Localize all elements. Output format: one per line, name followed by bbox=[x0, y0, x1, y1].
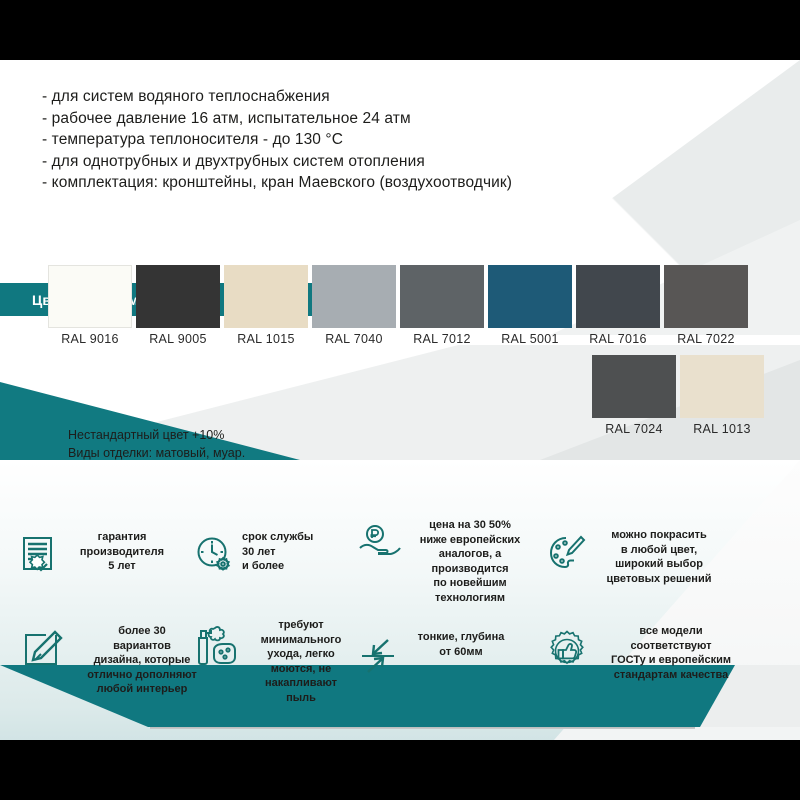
color-swatch-row-2: RAL 7024RAL 1013 bbox=[592, 355, 768, 440]
feature-text-line: производится bbox=[410, 562, 530, 577]
color-swatch: RAL 9005 bbox=[136, 265, 220, 346]
feature-item: гарантияпроизводителя5 лет bbox=[22, 530, 180, 579]
note-line-2: Виды отделки: матовый, муар. bbox=[68, 444, 245, 462]
feature-text-line: технологиям bbox=[410, 591, 530, 606]
slide-canvas: - для систем водяного теплоснабжения- ра… bbox=[0, 60, 800, 740]
color-swatch-chip bbox=[664, 265, 748, 328]
feature-text-line: срок службы bbox=[242, 530, 342, 545]
feature-item: требуютминимальногоухода, легкомоются, н… bbox=[192, 618, 356, 705]
hand-ruble-icon bbox=[358, 524, 402, 563]
thumbs-up-badge-icon bbox=[546, 630, 588, 677]
color-swatch-row-1: RAL 9016RAL 9005RAL 1015RAL 7040RAL 7012… bbox=[48, 265, 752, 350]
color-swatch-chip bbox=[592, 355, 676, 418]
feature-text-line: и более bbox=[242, 559, 342, 574]
color-swatch-chip bbox=[224, 265, 308, 328]
color-swatch-label: RAL 7022 bbox=[664, 332, 748, 346]
feature-item: более 30вариантовдизайна, которыеотлично… bbox=[22, 624, 212, 697]
color-swatch-chip bbox=[576, 265, 660, 328]
color-swatch: RAL 7040 bbox=[312, 265, 396, 346]
color-notes: Нестандартный цвет +10% Виды отделки: ма… bbox=[68, 426, 245, 462]
color-swatch-label: RAL 9005 bbox=[136, 332, 220, 346]
feature-text-line: ухода, легко bbox=[246, 647, 356, 662]
feature-text: все моделисоответствуютГОСТу и европейск… bbox=[596, 624, 746, 682]
feature-text-line: производителя bbox=[64, 545, 180, 560]
feature-text-line: минимального bbox=[246, 633, 356, 648]
feature-text-line: ниже европейских bbox=[410, 533, 530, 548]
feature-text-line: соответствуют bbox=[596, 639, 746, 654]
color-swatch: RAL 5001 bbox=[488, 265, 572, 346]
feature-text-line: стандартам качества bbox=[596, 668, 746, 683]
note-line-1: Нестандартный цвет +10% bbox=[68, 426, 245, 444]
feature-text-line: все модели bbox=[596, 624, 746, 639]
color-swatch-label: RAL 9016 bbox=[48, 332, 132, 346]
feature-text: можно покраситьв любой цвет,широкий выбо… bbox=[594, 528, 724, 586]
palette-brush-icon bbox=[548, 534, 586, 577]
feature-text-line: отлично дополняют bbox=[72, 668, 212, 683]
spec-bullet-item: - для однотрубных и двухтрубных систем о… bbox=[42, 151, 512, 173]
color-swatch-chip bbox=[680, 355, 764, 418]
color-swatch-label: RAL 7024 bbox=[592, 422, 676, 436]
spec-bullet-item: - комплектация: кронштейны, кран Маевско… bbox=[42, 172, 512, 194]
spec-bullet-item: - для систем водяного теплоснабжения bbox=[42, 86, 512, 108]
feature-text-line: требуют bbox=[246, 618, 356, 633]
feature-text: гарантияпроизводителя5 лет bbox=[64, 530, 180, 574]
feature-text-line: ГОСТу и европейским bbox=[596, 653, 746, 668]
feature-text: цена на 30 50%ниже европейскиханалогов, … bbox=[410, 518, 530, 605]
color-swatch: RAL 7012 bbox=[400, 265, 484, 346]
color-swatch: RAL 7022 bbox=[664, 265, 748, 346]
feature-text-line: накапливают bbox=[246, 676, 356, 691]
color-swatch: RAL 7024 bbox=[592, 355, 676, 436]
feature-item: можно покраситьв любой цвет,широкий выбо… bbox=[548, 528, 724, 586]
feature-text-line: по новейшим bbox=[410, 576, 530, 591]
feature-text: более 30вариантовдизайна, которыеотлично… bbox=[72, 624, 212, 697]
spec-bullet-item: - рабочее давление 16 атм, испытательное… bbox=[42, 108, 512, 130]
feature-text: тонкие, глубинаот 60мм bbox=[406, 630, 516, 659]
color-swatch: RAL 7016 bbox=[576, 265, 660, 346]
color-swatch-chip bbox=[312, 265, 396, 328]
color-swatch-label: RAL 7040 bbox=[312, 332, 396, 346]
feature-text: требуютминимальногоухода, легкомоются, н… bbox=[246, 618, 356, 705]
feature-grid: гарантияпроизводителя5 летсрок службы30 … bbox=[0, 512, 800, 722]
spec-bullet-item: - температура теплоносителя - до 130 °C bbox=[42, 129, 512, 151]
feature-text-line: от 60мм bbox=[406, 645, 516, 660]
spray-sponge-icon bbox=[192, 624, 238, 671]
spec-bullet-list: - для систем водяного теплоснабжения- ра… bbox=[42, 86, 512, 194]
feature-text-line: 30 лет bbox=[242, 545, 342, 560]
clock-gear-icon bbox=[196, 536, 234, 579]
color-swatch: RAL 9016 bbox=[48, 265, 132, 346]
feature-text-line: вариантов bbox=[72, 639, 212, 654]
certificate-icon bbox=[22, 536, 56, 579]
color-swatch-label: RAL 1015 bbox=[224, 332, 308, 346]
color-swatch-label: RAL 5001 bbox=[488, 332, 572, 346]
feature-text-line: цветовых решений bbox=[594, 572, 724, 587]
color-swatch-chip bbox=[136, 265, 220, 328]
feature-item: все моделисоответствуютГОСТу и европейск… bbox=[546, 624, 746, 682]
feature-item: срок службы30 лети более bbox=[196, 530, 342, 579]
color-swatch: RAL 1013 bbox=[680, 355, 764, 436]
feature-text-line: тонкие, глубина bbox=[406, 630, 516, 645]
feature-text-line: широкий выбор bbox=[594, 557, 724, 572]
color-swatch-chip bbox=[48, 265, 132, 328]
feature-text-line: в любой цвет, bbox=[594, 543, 724, 558]
feature-text-line: аналогов, а bbox=[410, 547, 530, 562]
color-swatch: RAL 1015 bbox=[224, 265, 308, 346]
feature-text-line: моются, не bbox=[246, 662, 356, 677]
color-swatch-label: RAL 7012 bbox=[400, 332, 484, 346]
pencil-page-icon bbox=[22, 630, 64, 675]
feature-text-line: можно покрасить bbox=[594, 528, 724, 543]
color-swatch-chip bbox=[400, 265, 484, 328]
color-swatch-chip bbox=[488, 265, 572, 328]
feature-item: тонкие, глубинаот 60мм bbox=[358, 630, 516, 681]
feature-text-line: более 30 bbox=[72, 624, 212, 639]
feature-text-line: пыль bbox=[246, 691, 356, 706]
feature-text-line: любой интерьер bbox=[72, 682, 212, 697]
color-swatch-label: RAL 1013 bbox=[680, 422, 764, 436]
depth-arrows-icon bbox=[358, 636, 398, 681]
feature-text-line: 5 лет bbox=[64, 559, 180, 574]
color-swatch-label: RAL 7016 bbox=[576, 332, 660, 346]
feature-text-line: цена на 30 50% bbox=[410, 518, 530, 533]
feature-text-line: дизайна, которые bbox=[72, 653, 212, 668]
feature-text-line: гарантия bbox=[64, 530, 180, 545]
feature-item: цена на 30 50%ниже европейскиханалогов, … bbox=[358, 518, 530, 605]
feature-text: срок службы30 лети более bbox=[242, 530, 342, 574]
